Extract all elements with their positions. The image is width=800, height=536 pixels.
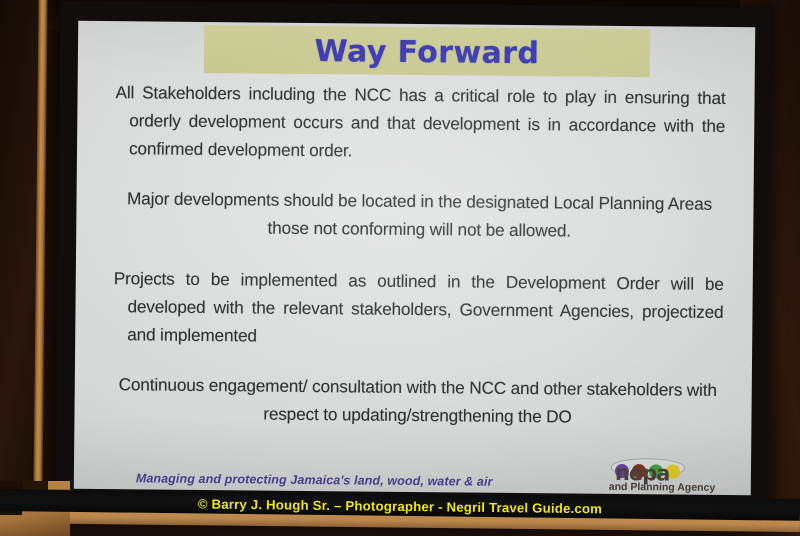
- slide-title: Way Forward: [204, 26, 650, 78]
- nepa-logo-subtitle: and Planning Agency: [609, 481, 715, 494]
- slide-paragraph-3: Projects to be implemented as outlined i…: [113, 264, 724, 354]
- slide-paragraph-4: Continuous engagement/ consultation with…: [112, 370, 723, 432]
- photograph-of-projected-slide: Way Forward All Stakeholders including t…: [0, 0, 800, 536]
- slide-paragraph-2: Major developments should be located in …: [114, 184, 725, 246]
- nepa-strapline: Managing and protecting Jamaica's land, …: [136, 471, 493, 488]
- nepa-logo: nepa and Planning Agency: [607, 460, 737, 493]
- slide-footer: Managing and protecting Jamaica's land, …: [74, 455, 751, 495]
- presentation-slide: Way Forward All Stakeholders including t…: [74, 21, 755, 495]
- slide-paragraph-1: All Stakeholders including the NCC has a…: [115, 78, 726, 168]
- slide-body: All Stakeholders including the NCC has a…: [112, 78, 725, 432]
